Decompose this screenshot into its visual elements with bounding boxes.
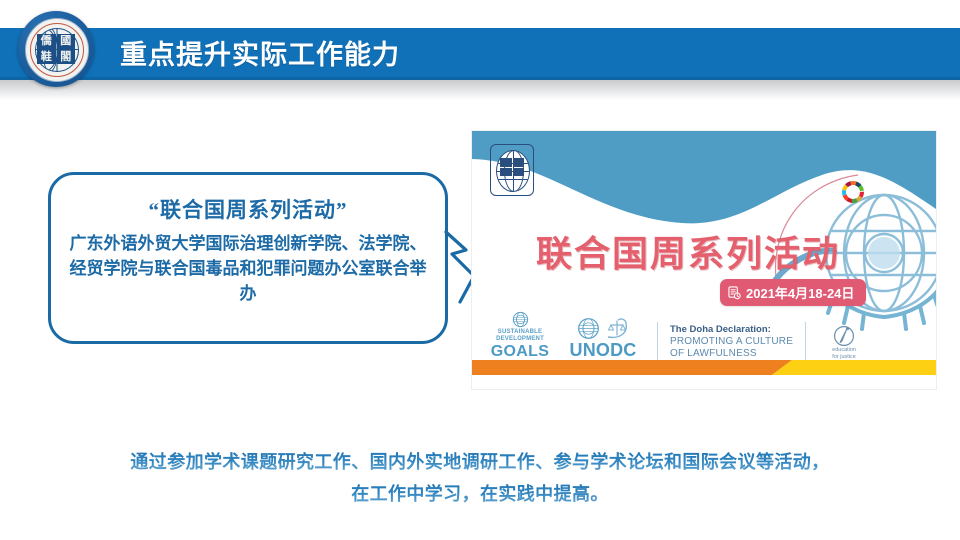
scales-of-justice-icon — [604, 317, 630, 341]
university-logo: 僑 國 鞋 閣 — [18, 11, 94, 87]
poster-bottom-stripe — [472, 360, 936, 375]
speech-bubble-content: “联合国周系列活动” 广东外语外贸大学国际治理创新学院、法学院、经贸学院与联合国… — [64, 194, 432, 306]
sdg-color-wheel-icon — [840, 179, 866, 205]
divider-2 — [805, 322, 806, 360]
poster-title: 联合国周系列活动 — [536, 225, 866, 277]
doha-line-2: PROMOTING A CULTURE — [670, 336, 793, 348]
logo-characters: 僑 國 鞋 閣 — [37, 34, 75, 64]
education-for-justice-logo: education for justice — [818, 325, 870, 360]
pen-circle-icon — [833, 325, 855, 347]
divider-1 — [657, 322, 658, 360]
slide-caption: 通过参加学术课题研究工作、国内外实地调研工作、参与学术论坛和国际会议等活动， 在… — [0, 446, 960, 510]
sdg-line-2: DEVELOPMENT — [496, 336, 544, 343]
bubble-description: 广东外语外贸大学国际治理创新学院、法学院、经贸学院与联合国毒品和犯罪问题办公室联… — [64, 231, 432, 306]
logo-inner-disc: 僑 國 鞋 閣 — [25, 18, 89, 82]
poster-date-badge: 2021年4月18-24日 — [720, 279, 866, 306]
slide-root: 僑 國 鞋 閣 重点提升实际工作能力 “联合国周系列活动” 广东外语外贸大学国际… — [0, 0, 960, 540]
event-poster: 联合国周系列活动 2021年4月18-24日 SUSTAINABLE DEVEL… — [472, 131, 936, 389]
doha-line-3: OF LAWFULNESS — [670, 348, 793, 360]
caption-line-1: 通过参加学术课题研究工作、国内外实地调研工作、参与学术论坛和国际会议等活动， — [0, 446, 960, 478]
sdg-goals-text: GOALS — [491, 343, 549, 360]
unodc-icon-row — [577, 316, 630, 341]
caption-line-2: 在工作中学习，在实践中提高。 — [0, 478, 960, 510]
unodc-text: UNODC — [570, 341, 637, 360]
logo-char-4: 閣 — [57, 50, 76, 65]
poster-partner-logos: SUSTAINABLE DEVELOPMENT GOALS — [486, 316, 926, 360]
unodc-logo: UNODC — [561, 316, 645, 360]
un-small-icon — [512, 311, 529, 328]
speech-bubble: “联合国周系列活动” 广东外语外贸大学国际治理创新学院、法学院、经贸学院与联合国… — [48, 172, 448, 344]
poster-logo-characters — [500, 158, 524, 176]
logo-char-2: 國 — [57, 34, 76, 49]
sdg-logo: SUSTAINABLE DEVELOPMENT GOALS — [486, 311, 554, 360]
doha-declaration-block: The Doha Declaration: PROMOTING A CULTUR… — [670, 318, 793, 360]
bubble-heading: “联合国周系列活动” — [64, 194, 432, 224]
calendar-icon — [728, 286, 741, 300]
poster-university-logo — [490, 144, 534, 196]
logo-char-1: 僑 — [37, 34, 56, 49]
doha-title: The Doha Declaration: — [670, 324, 793, 336]
unodc-un-emblem-icon — [577, 317, 600, 340]
sdg-line-1: SUSTAINABLE — [498, 329, 542, 336]
logo-char-3: 鞋 — [37, 50, 56, 65]
page-title: 重点提升实际工作能力 — [120, 29, 400, 81]
poster-date-text: 2021年4月18-24日 — [746, 283, 854, 302]
header-shadow — [0, 80, 960, 100]
